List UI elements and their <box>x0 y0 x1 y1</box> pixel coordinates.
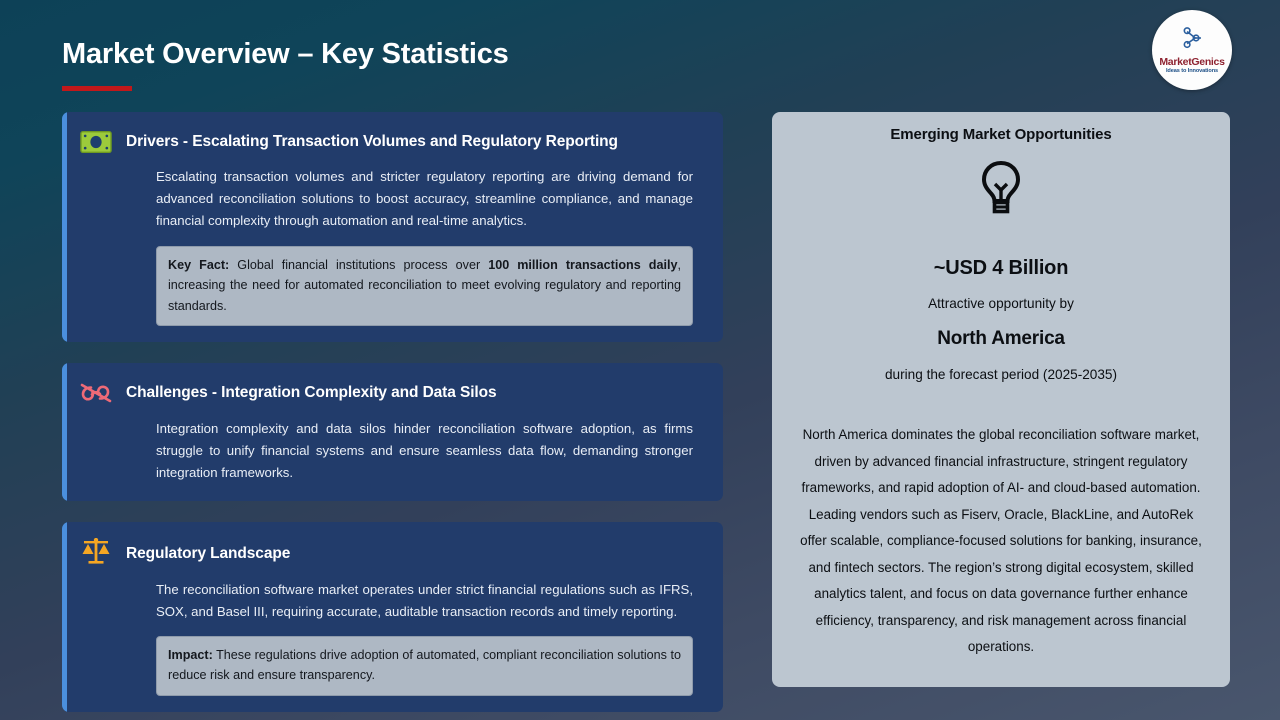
brand-logo: MarketGenics Ideas to Innovations <box>1152 10 1232 90</box>
network-nodes-icon <box>1179 25 1205 56</box>
callout-text-part1: These regulations drive adoption of auto… <box>168 648 681 683</box>
callout-label: Key Fact: <box>168 258 229 272</box>
panel-title: Emerging Market Opportunities <box>794 126 1208 143</box>
page-title: Market Overview – Key Statistics <box>62 38 509 71</box>
opportunity-value: ~USD 4 Billion <box>794 257 1208 280</box>
title-underline-accent <box>62 86 132 91</box>
card-regulatory-landscape: Regulatory Landscape The reconciliation … <box>62 522 723 712</box>
impact-callout: Impact: These regulations drive adoption… <box>156 636 693 696</box>
callout-emphasis: 100 million transactions daily <box>488 258 677 272</box>
card-header: Drivers - Escalating Transaction Volumes… <box>78 126 705 158</box>
balance-scales-icon <box>78 536 114 568</box>
opportunity-subtitle: Attractive opportunity by <box>794 296 1208 311</box>
broken-link-icon <box>78 377 114 409</box>
card-body-text: Integration complexity and data silos hi… <box>156 418 705 485</box>
logo-name: MarketGenics <box>1159 57 1224 68</box>
card-title: Regulatory Landscape <box>126 536 290 563</box>
insight-cards-column: Drivers - Escalating Transaction Volumes… <box>62 112 723 720</box>
emerging-opportunities-panel: Emerging Market Opportunities ~USD 4 Bil… <box>772 112 1230 687</box>
card-body-text: The reconciliation software market opera… <box>156 579 705 623</box>
key-fact-callout: Key Fact: Global financial institutions … <box>156 246 693 327</box>
card-challenges: Challenges - Integration Complexity and … <box>62 363 723 501</box>
card-title: Challenges - Integration Complexity and … <box>126 377 497 402</box>
forecast-period: during the forecast period (2025-2035) <box>794 367 1208 382</box>
card-header: Challenges - Integration Complexity and … <box>78 377 705 409</box>
lightbulb-icon <box>794 159 1208 219</box>
card-body-text: Escalating transaction volumes and stric… <box>156 166 705 233</box>
card-header: Regulatory Landscape <box>78 536 705 568</box>
logo-tagline: Ideas to Innovations <box>1166 68 1218 75</box>
card-drivers: Drivers - Escalating Transaction Volumes… <box>62 112 723 342</box>
money-banknote-icon <box>78 126 114 158</box>
leading-region: North America <box>794 328 1208 350</box>
panel-paragraph: North America dominates the global recon… <box>794 422 1208 661</box>
callout-text-part1: Global financial institutions process ov… <box>229 258 488 272</box>
card-title: Drivers - Escalating Transaction Volumes… <box>126 126 618 151</box>
callout-label: Impact: <box>168 648 213 662</box>
